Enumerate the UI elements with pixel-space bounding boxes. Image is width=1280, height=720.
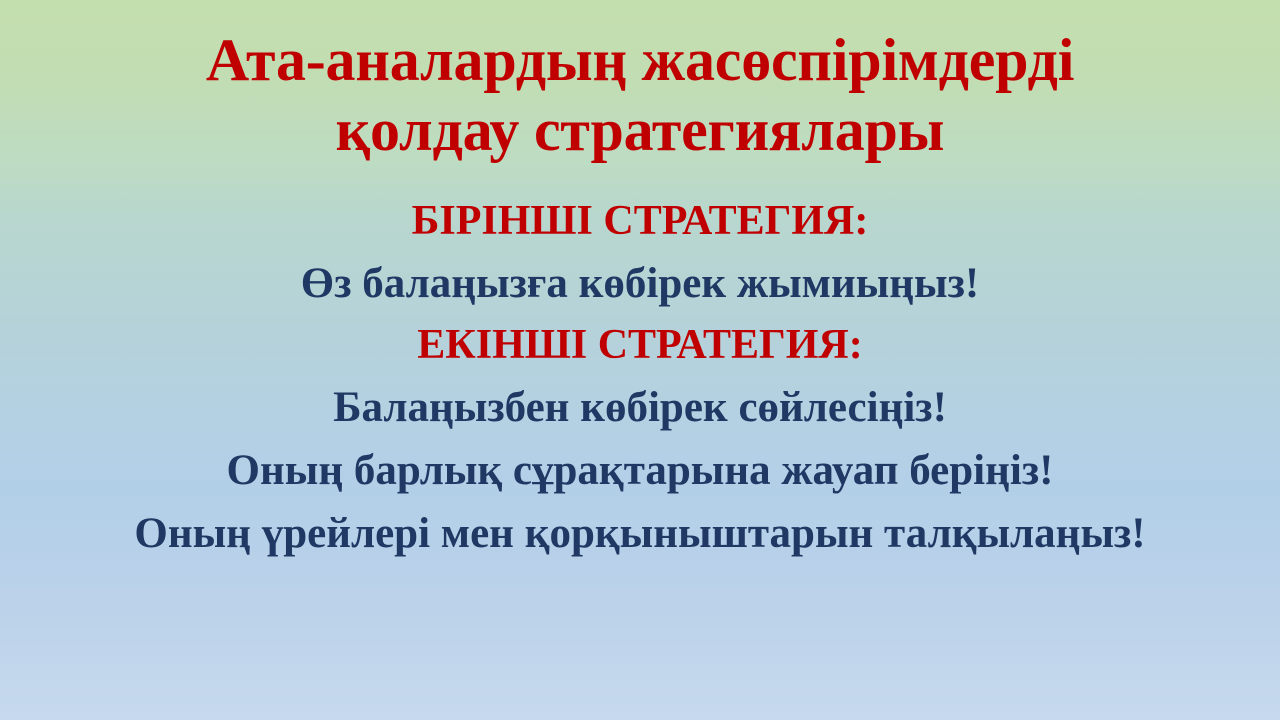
- strategy-two-text-1: Балаңызбен көбірек сөйлесіңіз!: [20, 376, 1260, 439]
- slide-title: Ата-аналардың жасөспірімдерді қолдау стр…: [50, 26, 1230, 165]
- slide-body: БІРІНШІ СТРАТЕГИЯ: Өз балаңызға көбірек …: [20, 191, 1260, 565]
- strategy-two-heading: ЕКІНШІ СТРАТЕГИЯ:: [20, 315, 1260, 376]
- slide-title-line-1: Ата-аналардың жасөспірімдерді: [50, 26, 1230, 96]
- strategy-one-text: Өз балаңызға көбірек жымиыңыз!: [20, 252, 1260, 315]
- strategy-two-text-3: Оның үрейлері мен қорқыныштарын талқылаң…: [20, 502, 1260, 565]
- presentation-slide: Ата-аналардың жасөспірімдерді қолдау стр…: [0, 0, 1280, 720]
- strategy-two-text-2: Оның барлық сұрақтарына жауап беріңіз!: [20, 439, 1260, 502]
- slide-title-line-2: қолдау стратегиялары: [50, 96, 1230, 166]
- strategy-one-heading: БІРІНШІ СТРАТЕГИЯ:: [20, 191, 1260, 252]
